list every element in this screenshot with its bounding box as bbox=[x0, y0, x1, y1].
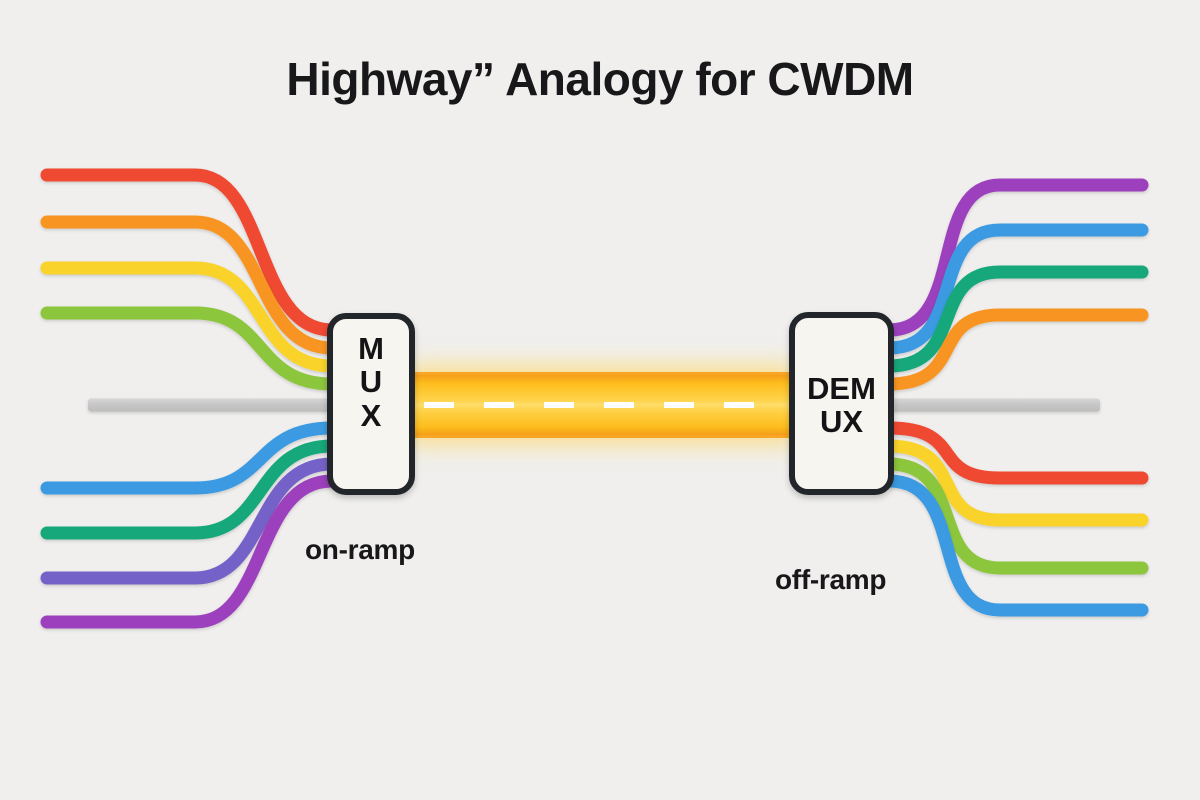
fiber-right-blue bbox=[889, 230, 1142, 348]
off-ramp-label: off-ramp bbox=[775, 564, 886, 596]
highway-dash bbox=[484, 402, 514, 408]
mux-node[interactable] bbox=[330, 316, 412, 492]
highway-dash bbox=[424, 402, 454, 408]
cwdm-highway-diagram bbox=[0, 0, 1200, 800]
fiber-right-blue2 bbox=[889, 481, 1142, 610]
fiber-left-indigo bbox=[47, 464, 332, 578]
road-stub-left bbox=[88, 399, 330, 412]
highway-trunk bbox=[404, 368, 800, 442]
highway-dash bbox=[664, 402, 694, 408]
highway-dash bbox=[724, 402, 754, 408]
fiber-group-right bbox=[889, 185, 1142, 610]
fiber-left-purple bbox=[47, 481, 332, 622]
road-stub-right bbox=[891, 399, 1100, 412]
fiber-right-purple bbox=[889, 185, 1142, 330]
page-title: Highway” Analogy for CWDM bbox=[0, 52, 1200, 106]
demux-node[interactable] bbox=[792, 315, 891, 492]
highway-dash bbox=[604, 402, 634, 408]
diagram-canvas: Highway” Analogy for CWDM M U X DEM UX o… bbox=[0, 0, 1200, 800]
on-ramp-label: on-ramp bbox=[305, 534, 415, 566]
highway-dash bbox=[544, 402, 574, 408]
fiber-left-orange bbox=[47, 222, 332, 348]
